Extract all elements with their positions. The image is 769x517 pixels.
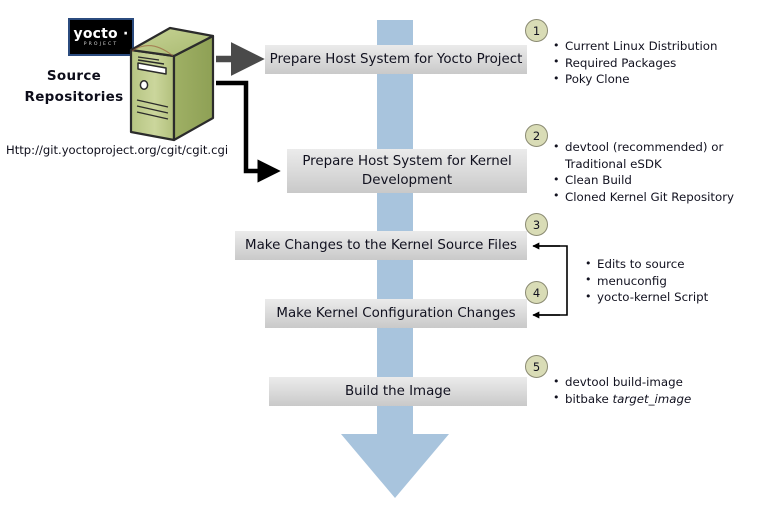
diagram-canvas: yocto · PROJECT Source Repositories Http… (0, 0, 769, 517)
process-box-label: Make Kernel Configuration Changes (276, 304, 515, 323)
logo-subtext: PROJECT (84, 43, 119, 48)
step-badge-5: 5 (525, 355, 548, 378)
step-number: 2 (533, 129, 540, 143)
process-box-make-config-changes[interactable]: Make Kernel Configuration Changes (265, 299, 527, 328)
process-box-label: Make Changes to the Kernel Source Files (245, 236, 517, 255)
step-number: 3 (533, 218, 540, 232)
process-box-label: Build the Image (345, 382, 451, 401)
notes-list-step-1: Current Linux Distribution Required Pack… (553, 38, 765, 88)
list-item: Clean Build (553, 172, 765, 189)
list-item: Current Linux Distribution (553, 38, 765, 55)
server-icon (126, 26, 218, 142)
source-label-line-2: Repositories (16, 87, 132, 108)
step-badge-1: 1 (525, 19, 548, 42)
step-number: 5 (533, 360, 540, 374)
list-item: Edits to source (585, 256, 765, 273)
process-box-build-image[interactable]: Build the Image (269, 377, 527, 406)
logo-wordmark: yocto · (74, 27, 129, 41)
step-badge-2: 2 (525, 124, 548, 147)
list-item: devtool (recommended) or Traditional eSD… (553, 139, 765, 172)
command-text: devtool build-image (565, 375, 683, 389)
process-box-label: Prepare Host System for Kernel Developme… (302, 152, 511, 190)
yocto-project-logo: yocto · PROJECT (68, 18, 134, 56)
step-number: 4 (533, 286, 540, 300)
notes-list-step-2: devtool (recommended) or Traditional eSD… (553, 139, 765, 205)
step-badge-3: 3 (525, 213, 548, 236)
step-badge-4: 4 (525, 281, 548, 304)
source-repositories-label: Source Repositories (16, 66, 132, 108)
process-box-label: Prepare Host System for Yocto Project (270, 50, 523, 69)
command-text: bitbake (565, 392, 613, 406)
list-item: Poky Clone (553, 71, 765, 88)
process-box-prepare-host-yocto[interactable]: Prepare Host System for Yocto Project (265, 45, 527, 74)
list-item: bitbake target_image (553, 391, 765, 408)
list-item: Required Packages (553, 55, 765, 72)
repository-url-text: Http://git.yoctoproject.org/cgit/cgit.cg… (6, 143, 228, 157)
notes-list-step-5: devtool build-image bitbake target_image (553, 374, 765, 407)
process-box-make-source-changes[interactable]: Make Changes to the Kernel Source Files (235, 231, 527, 260)
process-box-prepare-host-kernel[interactable]: Prepare Host System for Kernel Developme… (287, 149, 527, 193)
notes-list-step-3-4: Edits to source menuconfig yocto-kernel … (585, 256, 765, 306)
list-item: Cloned Kernel Git Repository (553, 189, 765, 206)
list-item: menuconfig (585, 273, 765, 290)
list-item: devtool build-image (553, 374, 765, 391)
command-argument: target_image (613, 392, 692, 406)
step-number: 1 (533, 24, 540, 38)
source-label-line-1: Source (16, 66, 132, 87)
list-item: yocto-kernel Script (585, 289, 765, 306)
